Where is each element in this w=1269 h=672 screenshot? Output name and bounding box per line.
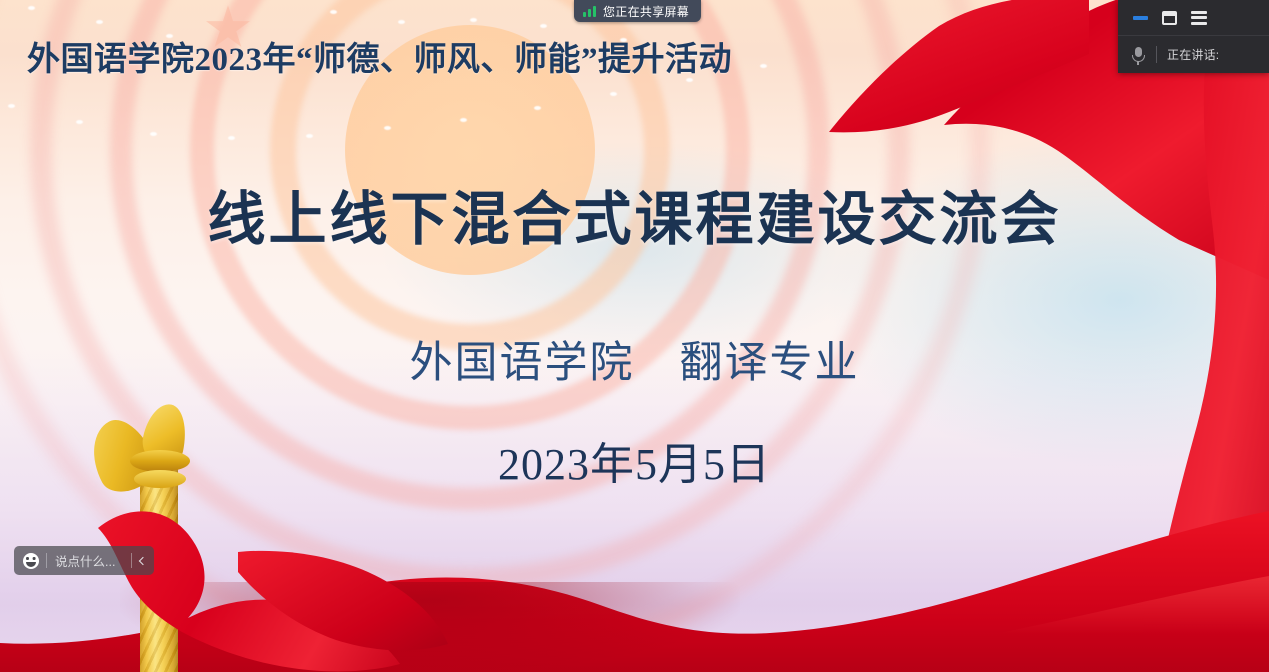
menu-button[interactable] [1191, 11, 1207, 25]
chevron-left-icon [139, 556, 147, 564]
panel-titlebar [1118, 0, 1269, 36]
emoji-picker-button[interactable] [16, 546, 46, 575]
collapse-chat-button[interactable] [132, 546, 152, 575]
smiley-face-icon [23, 553, 39, 569]
panel-divider [1156, 46, 1157, 63]
chat-message-input[interactable]: 说点什么... [47, 551, 131, 570]
minimize-icon [1133, 16, 1148, 20]
screen-capture-stage: 外国语学院2023年“师德、师风、师能”提升活动 线上线下混合式课程建设交流会 … [0, 0, 1269, 672]
minimize-button[interactable] [1133, 16, 1148, 20]
maximize-icon [1162, 11, 1177, 25]
slide-date: 2023年5月5日 [0, 428, 1269, 492]
meeting-control-panel: 正在讲话: [1118, 0, 1269, 73]
slide-main-title: 线上线下混合式课程建设交流会 [0, 172, 1269, 256]
microphone-icon[interactable] [1129, 45, 1147, 65]
slide-subtitle: 外国语学院 翻译专业 [0, 328, 1269, 390]
hamburger-menu-icon [1191, 11, 1207, 25]
signal-bars-icon [583, 6, 596, 17]
active-speaker-label: 正在讲话: [1167, 46, 1219, 63]
screen-sharing-banner[interactable]: 您正在共享屏幕 [574, 0, 701, 22]
slide-header-text: 外国语学院2023年“师德、师风、师能”提升活动 [27, 32, 732, 80]
screen-sharing-label: 您正在共享屏幕 [603, 3, 689, 20]
active-speaker-row[interactable]: 正在讲话: [1118, 36, 1269, 73]
chat-input-bar[interactable]: 说点什么... [14, 546, 154, 575]
maximize-button[interactable] [1162, 11, 1177, 25]
